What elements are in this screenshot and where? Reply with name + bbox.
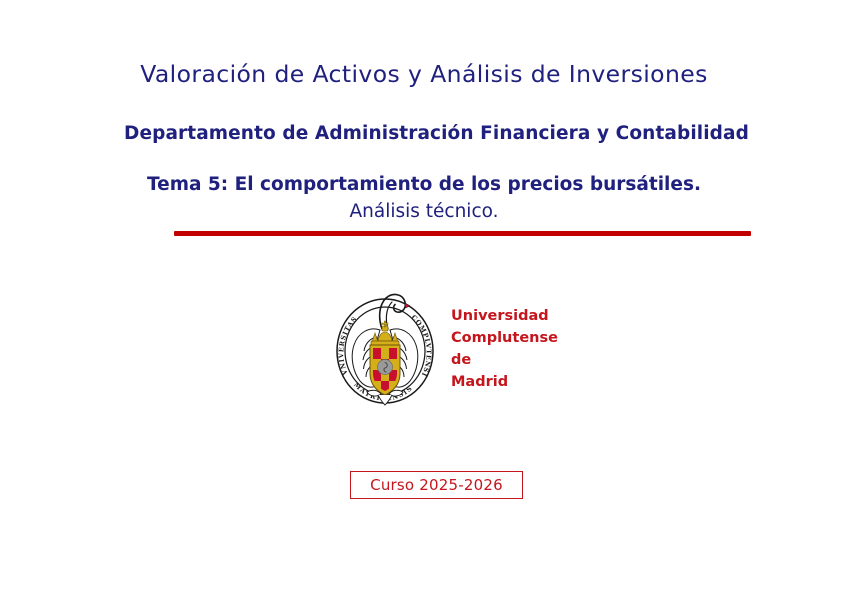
course-year-box: Curso 2025-2026	[350, 471, 523, 499]
topic-subtitle: Tema 5: El comportamiento de los precios…	[124, 172, 724, 226]
topic-line-1: Tema 5: El comportamiento de los precios…	[147, 174, 701, 195]
topic-line-2: Análisis técnico.	[124, 199, 724, 226]
course-year-label: Curso 2025-2026	[370, 476, 503, 494]
university-name: Universidad Complutense de Madrid	[451, 305, 558, 393]
red-divider-rule	[174, 231, 751, 236]
ucm-crest-icon: VNIVERSITAS COMPLVTENSIS MATRITENSIS	[330, 281, 440, 407]
university-name-line-3: de	[451, 349, 558, 371]
university-name-line-1: Universidad	[451, 305, 558, 327]
university-name-line-4: Madrid	[451, 371, 558, 393]
page-title: Valoración de Activos y Análisis de Inve…	[124, 60, 724, 88]
title-slide: Valoración de Activos y Análisis de Inve…	[0, 0, 848, 599]
university-name-line-2: Complutense	[451, 327, 558, 349]
university-branding: VNIVERSITAS COMPLVTENSIS MATRITENSIS	[330, 281, 630, 409]
department-subtitle: Departamento de Administración Financier…	[124, 123, 724, 145]
